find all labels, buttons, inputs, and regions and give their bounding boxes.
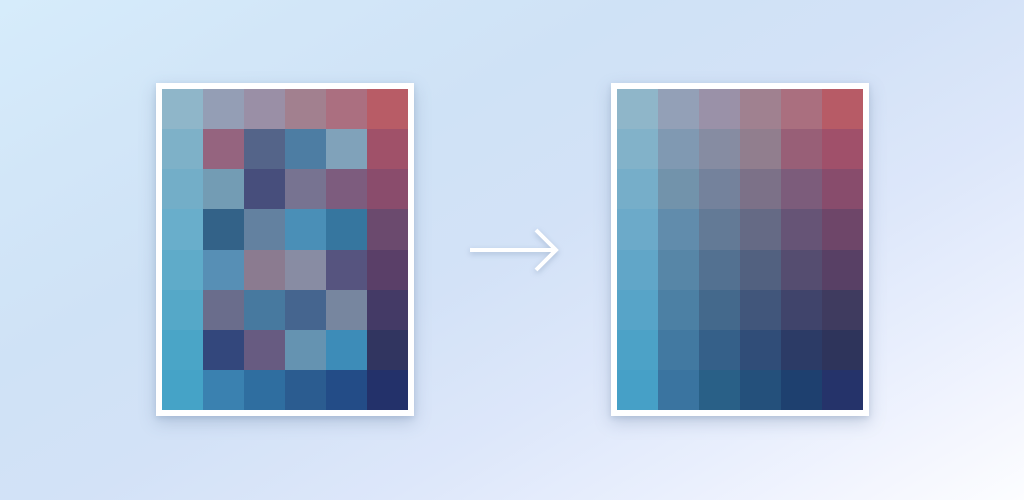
pixelated-cell-r5-c1	[203, 290, 244, 330]
pixelated-cell-r2-c2	[244, 169, 285, 209]
smoothed-cell-r1-c0	[617, 129, 658, 169]
pixelated-cell-r5-c2	[244, 290, 285, 330]
smoothed-cell-r1-c2	[699, 129, 740, 169]
smoothed-cell-r0-c3	[740, 89, 781, 129]
smoothed-cell-r3-c1	[658, 209, 699, 249]
smoothed-cell-r4-c0	[617, 250, 658, 290]
pixelated-cell-r3-c3	[285, 209, 326, 249]
smoothed-cell-r7-c1	[658, 370, 699, 410]
pixelated-cell-r2-c1	[203, 169, 244, 209]
pixelated-cell-r5-c5	[367, 290, 408, 330]
smoothed-cell-r2-c3	[740, 169, 781, 209]
smoothed-cell-r2-c0	[617, 169, 658, 209]
pixelated-cell-r1-c0	[162, 129, 203, 169]
pixelated-cell-r5-c3	[285, 290, 326, 330]
pixelated-cell-r7-c4	[326, 370, 367, 410]
smoothed-cell-r3-c5	[822, 209, 863, 249]
pixelated-cell-r3-c2	[244, 209, 285, 249]
pixelated-cell-r1-c3	[285, 129, 326, 169]
pixelated-cell-r3-c4	[326, 209, 367, 249]
pixelated-heatmap-grid	[162, 89, 408, 410]
pixelated-cell-r0-c4	[326, 89, 367, 129]
smoothed-cell-r1-c1	[658, 129, 699, 169]
smoothed-cell-r3-c4	[781, 209, 822, 249]
smoothed-cell-r7-c3	[740, 370, 781, 410]
smoothed-cell-r4-c2	[699, 250, 740, 290]
pixelated-cell-r1-c2	[244, 129, 285, 169]
smoothed-cell-r3-c0	[617, 209, 658, 249]
smoothed-cell-r5-c5	[822, 290, 863, 330]
pixelated-cell-r1-c4	[326, 129, 367, 169]
smoothed-cell-r4-c1	[658, 250, 699, 290]
smoothed-cell-r0-c1	[658, 89, 699, 129]
pixelated-cell-r2-c0	[162, 169, 203, 209]
smoothed-cell-r4-c4	[781, 250, 822, 290]
smoothed-cell-r5-c0	[617, 290, 658, 330]
pixelated-cell-r3-c1	[203, 209, 244, 249]
smoothed-cell-r0-c4	[781, 89, 822, 129]
smoothed-cell-r5-c1	[658, 290, 699, 330]
smoothed-cell-r3-c2	[699, 209, 740, 249]
smoothed-cell-r2-c4	[781, 169, 822, 209]
smoothed-cell-r6-c1	[658, 330, 699, 370]
smoothed-cell-r2-c1	[658, 169, 699, 209]
pixelated-cell-r7-c1	[203, 370, 244, 410]
smoothed-cell-r6-c2	[699, 330, 740, 370]
pixelated-cell-r6-c4	[326, 330, 367, 370]
smoothed-heatmap-grid	[617, 89, 863, 410]
smoothed-cell-r0-c5	[822, 89, 863, 129]
pixelated-cell-r0-c2	[244, 89, 285, 129]
smoothed-cell-r7-c4	[781, 370, 822, 410]
smoothed-cell-r7-c5	[822, 370, 863, 410]
pixelated-cell-r7-c3	[285, 370, 326, 410]
pixelated-cell-r7-c5	[367, 370, 408, 410]
pixelated-cell-r4-c5	[367, 250, 408, 290]
smoothed-cell-r6-c5	[822, 330, 863, 370]
pixelated-cell-r0-c5	[367, 89, 408, 129]
pixelated-cell-r2-c4	[326, 169, 367, 209]
pixelated-cell-r7-c2	[244, 370, 285, 410]
pixelated-cell-r4-c1	[203, 250, 244, 290]
pixelated-cell-r2-c5	[367, 169, 408, 209]
pixelated-cell-r2-c3	[285, 169, 326, 209]
smoothed-cell-r1-c4	[781, 129, 822, 169]
smoothed-cell-r3-c3	[740, 209, 781, 249]
pixelated-cell-r0-c1	[203, 89, 244, 129]
smoothed-cell-r2-c5	[822, 169, 863, 209]
arrow-right-icon	[466, 224, 562, 276]
smoothed-cell-r7-c0	[617, 370, 658, 410]
pixelated-cell-r0-c3	[285, 89, 326, 129]
smoothed-cell-r1-c5	[822, 129, 863, 169]
smoothed-cell-r0-c0	[617, 89, 658, 129]
pixelated-cell-r6-c5	[367, 330, 408, 370]
pixelated-cell-r5-c4	[326, 290, 367, 330]
smoothed-cell-r5-c3	[740, 290, 781, 330]
pixelated-cell-r6-c0	[162, 330, 203, 370]
pixelated-cell-r6-c3	[285, 330, 326, 370]
smoothed-cell-r4-c5	[822, 250, 863, 290]
pixelated-cell-r6-c2	[244, 330, 285, 370]
pixelated-cell-r7-c0	[162, 370, 203, 410]
pixelated-cell-r4-c4	[326, 250, 367, 290]
pixelated-heatmap-card[interactable]	[156, 83, 414, 416]
pixelated-cell-r4-c0	[162, 250, 203, 290]
smoothed-cell-r5-c2	[699, 290, 740, 330]
pixelated-cell-r5-c0	[162, 290, 203, 330]
pixelated-cell-r1-c1	[203, 129, 244, 169]
smoothed-cell-r0-c2	[699, 89, 740, 129]
smoothed-cell-r1-c3	[740, 129, 781, 169]
smoothed-cell-r6-c0	[617, 330, 658, 370]
smoothed-cell-r5-c4	[781, 290, 822, 330]
pixelated-cell-r3-c5	[367, 209, 408, 249]
pixelated-cell-r3-c0	[162, 209, 203, 249]
smoothed-heatmap-card[interactable]	[611, 83, 869, 416]
smoothed-cell-r7-c2	[699, 370, 740, 410]
pixelated-cell-r4-c2	[244, 250, 285, 290]
pixelated-cell-r0-c0	[162, 89, 203, 129]
pixelated-cell-r4-c3	[285, 250, 326, 290]
pixelated-cell-r1-c5	[367, 129, 408, 169]
smoothed-cell-r2-c2	[699, 169, 740, 209]
smoothed-cell-r6-c4	[781, 330, 822, 370]
scene-canvas	[0, 0, 1024, 500]
smoothed-cell-r4-c3	[740, 250, 781, 290]
smoothed-cell-r6-c3	[740, 330, 781, 370]
pixelated-cell-r6-c1	[203, 330, 244, 370]
